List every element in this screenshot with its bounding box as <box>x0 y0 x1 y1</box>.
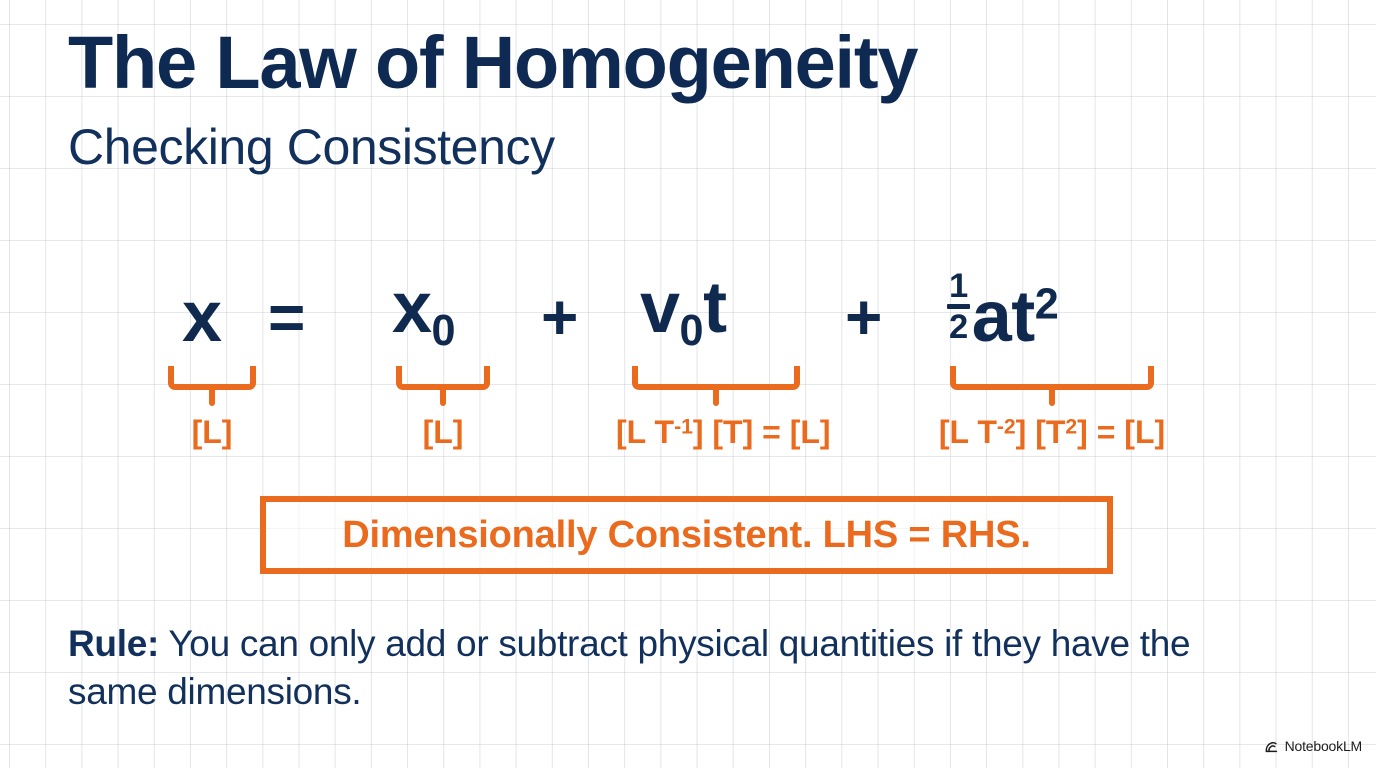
dimension-text-lead: [L T <box>939 414 997 450</box>
dimension-exponent-second: 2 <box>1065 415 1077 438</box>
equation-term-x-zero: x0 <box>392 272 455 353</box>
dimension-label-half-a-t-squared: [L T-2] [T2] = [L] <box>938 416 1166 448</box>
fraction-one-half: 1 2 <box>947 269 970 345</box>
conclusion-callout-box: Dimensionally Consistent. LHS = RHS. <box>260 496 1113 574</box>
glyph-equals: = <box>268 281 305 353</box>
equation-term-x: x <box>182 281 222 353</box>
glyph-v: v <box>640 268 680 348</box>
glyph-at: at <box>972 277 1035 357</box>
rule-text: You can only add or subtract physical qu… <box>68 623 1190 712</box>
glyph-plus: + <box>541 281 578 353</box>
conclusion-text: Dimensionally Consistent. LHS = RHS. <box>342 516 1031 554</box>
glyph-plus: + <box>845 281 882 353</box>
dimension-text-rest: ] = [L] <box>1077 414 1165 450</box>
dimension-label-x-zero: [L] <box>396 416 490 448</box>
brace-under-x <box>168 366 256 390</box>
notebooklm-watermark: NotebookLM <box>1265 738 1362 754</box>
fraction-numerator: 1 <box>947 269 970 305</box>
fraction-denominator: 2 <box>947 309 970 345</box>
brace-under-v-zero-t <box>632 366 800 390</box>
equation-operator-equals: = <box>268 285 305 349</box>
glyph-x: x <box>182 277 222 357</box>
dimension-exponent: -2 <box>997 415 1016 438</box>
page-subtitle: Checking Consistency <box>68 122 917 172</box>
title-block: The Law of Homogeneity Checking Consiste… <box>68 26 917 172</box>
dimension-text-mid: ] [T <box>1016 414 1066 450</box>
dimension-label-x: [L] <box>168 416 256 448</box>
glyph-t: t <box>703 268 726 348</box>
equation-operator-plus-first: + <box>541 285 578 349</box>
equation-term-v-zero-t: v0t <box>640 272 727 353</box>
brace-under-half-a-t-squared <box>950 366 1154 390</box>
notebooklm-label: NotebookLM <box>1285 738 1362 754</box>
dimension-exponent: -1 <box>674 415 693 438</box>
equation-row: x = x0 + v0t + 1 2 at2 <box>150 243 1220 353</box>
slide-canvas: The Law of Homogeneity Checking Consiste… <box>0 0 1376 768</box>
equation-term-half-a-t-squared: 1 2 at2 <box>947 272 1058 353</box>
subscript-zero: 0 <box>680 307 704 355</box>
dimension-text: [L] <box>423 414 464 450</box>
page-title: The Law of Homogeneity <box>68 26 917 100</box>
superscript-two: 2 <box>1035 281 1059 329</box>
glyph-x: x <box>392 268 432 348</box>
dimension-text-rest: ] [T] = [L] <box>693 414 831 450</box>
equation-operator-plus-second: + <box>845 285 882 349</box>
rule-block: Rule: You can only add or subtract physi… <box>68 620 1268 716</box>
notebooklm-spiral-icon <box>1265 740 1280 753</box>
dimension-text-lead: [L T <box>616 414 674 450</box>
subscript-zero: 0 <box>432 307 456 355</box>
rule-label: Rule: <box>68 623 159 664</box>
dimension-text: [L] <box>192 414 233 450</box>
dimension-label-v-zero-t: [L T-1] [T] = [L] <box>616 416 816 448</box>
brace-under-x-zero <box>396 366 490 390</box>
